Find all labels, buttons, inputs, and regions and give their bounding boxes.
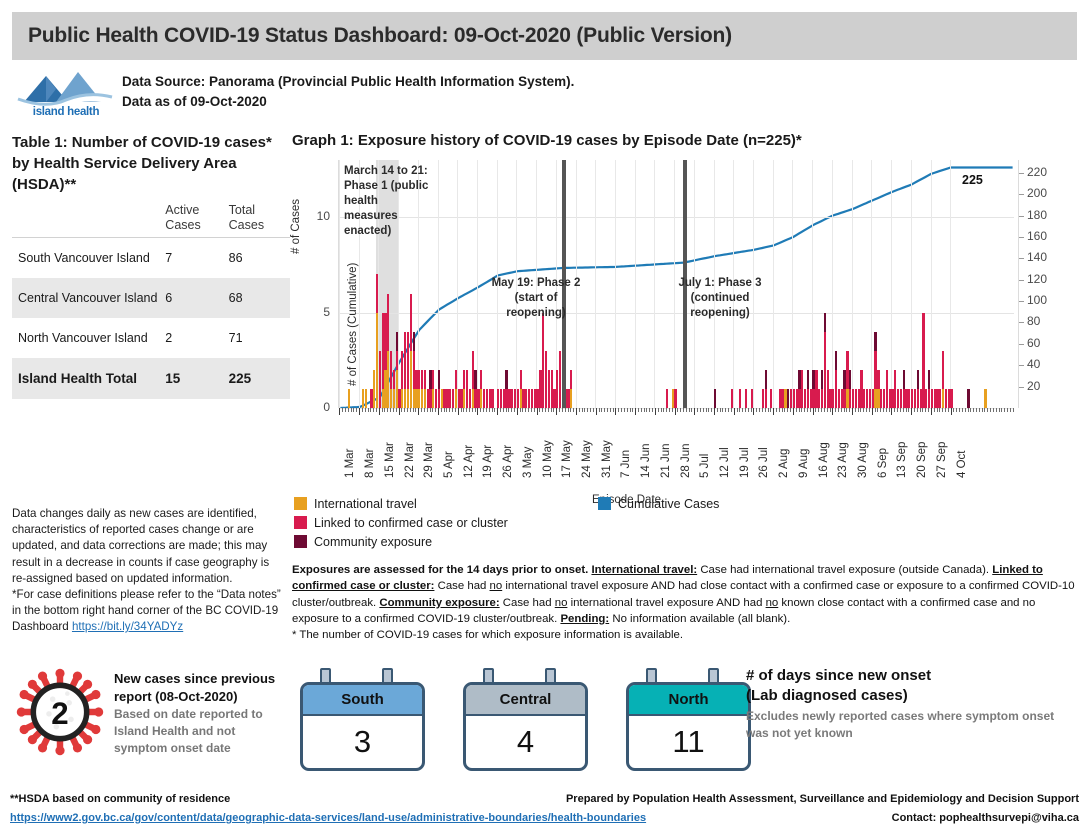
x-axis-tick (703, 408, 704, 412)
x-axis-tick (706, 408, 707, 412)
gridline-vertical (457, 160, 458, 408)
x-axis-tick (435, 408, 436, 412)
x-axis-tick (725, 408, 726, 412)
x-axis-tick (925, 408, 926, 412)
bar-segment (413, 332, 415, 351)
x-axis-tick (590, 408, 591, 412)
x-axis-tick-label: 8 Mar (364, 449, 376, 478)
x-axis-tick-label: 10 May (542, 440, 554, 478)
x-axis-tick (638, 408, 639, 412)
x-axis-tick-label: 2 Aug (778, 449, 790, 478)
y-axis-left-tick: 10 (304, 209, 330, 223)
x-axis-tick (697, 408, 698, 412)
x-axis-tick (748, 408, 749, 412)
x-axis-tick (787, 408, 788, 412)
x-axis-tick (404, 408, 405, 412)
legend-item: Community exposure (294, 532, 794, 551)
x-axis-tick (661, 408, 662, 412)
x-axis-tick (630, 408, 631, 412)
calendar-card-south: South 3 (300, 668, 425, 771)
x-axis-tick (500, 408, 501, 412)
x-axis-tick (1001, 408, 1002, 412)
x-axis-tick (672, 408, 673, 412)
y-axis-right-tick: 120 (1027, 272, 1047, 286)
x-axis-tick (838, 408, 839, 412)
y-axis-right-tickmark (1019, 387, 1024, 388)
exposure-definitions-note: Exposures are assessed for the 14 days p… (292, 562, 1082, 643)
bar-segment (765, 370, 767, 389)
logo-wordmark: island health (16, 106, 116, 118)
x-axis-major-tick (832, 408, 833, 415)
y-axis-right-tick: 220 (1027, 165, 1047, 179)
x-axis-major-tick (675, 408, 676, 415)
x-axis-tick (801, 408, 802, 412)
x-axis-tick (362, 408, 363, 412)
y-axis-right-tick: 60 (1027, 336, 1040, 350)
x-axis-major-tick (576, 408, 577, 415)
x-axis-tick (373, 408, 374, 412)
x-axis-tick (722, 408, 723, 412)
x-axis-tick (863, 408, 864, 412)
x-axis-major-tick (379, 408, 380, 415)
x-axis-tick (691, 408, 692, 412)
x-axis-tick (401, 408, 402, 412)
table-title: Table 1: Number of COVID-19 cases* by He… (12, 132, 290, 195)
x-axis-tick (455, 408, 456, 412)
data-changes-note: Data changes daily as new cases are iden… (12, 507, 269, 585)
x-axis-tick (384, 408, 385, 412)
table-col-active-cases: ActiveCases (165, 203, 228, 238)
page-title: Public Health COVID-19 Status Dashboard:… (12, 24, 732, 48)
legend-label: Linked to confirmed case or cluster (314, 516, 508, 530)
y-axis-right-tickmark (1019, 280, 1024, 281)
x-axis-major-tick (635, 408, 636, 415)
bar-segment (942, 351, 944, 389)
x-axis-tick (965, 408, 966, 412)
x-axis-tick (1007, 408, 1008, 412)
row-total-cases: 68 (229, 278, 290, 318)
y-axis-right-tickmark (1019, 258, 1024, 259)
bar-segment (849, 370, 851, 389)
x-axis-tick (579, 408, 580, 412)
hsda-case-table: ActiveCases TotalCases South Vancouver I… (12, 203, 290, 399)
x-axis-tick (444, 408, 445, 412)
x-axis-tick (858, 408, 859, 412)
table-row: North Vancouver Island 2 71 (12, 318, 290, 358)
x-axis-tick (520, 408, 521, 412)
total-total-cases: 225 (229, 358, 290, 399)
x-axis-tick (494, 408, 495, 412)
x-axis-tick (962, 408, 963, 412)
x-axis-major-tick (793, 408, 794, 415)
term-pending: Pending: (560, 613, 609, 625)
x-axis-tick (610, 408, 611, 412)
x-axis-tick (739, 408, 740, 412)
x-axis-tick (621, 408, 622, 412)
x-axis-tick-label: 24 May (581, 440, 593, 478)
x-axis-tick-label: 28 Jun (680, 443, 692, 478)
data-source-block: Data Source: Panorama (Provincial Public… (122, 72, 722, 112)
bar-segment (984, 389, 986, 408)
left-column: Table 1: Number of COVID-19 cases* by He… (12, 132, 290, 399)
bar-segment (765, 389, 767, 408)
x-axis-tick (875, 408, 876, 412)
table-row: Central Vancouver Island 6 68 (12, 278, 290, 318)
gridline-vertical (950, 160, 951, 408)
x-axis-tick (449, 408, 450, 412)
x-axis-tick (984, 408, 985, 412)
x-axis-major-tick (714, 408, 715, 415)
bar-segment (491, 389, 493, 408)
x-axis-tick (844, 408, 845, 412)
x-axis-tick (815, 408, 816, 412)
x-axis-tick-label: 29 Mar (423, 442, 435, 478)
calendar-card-central: Central 4 (463, 668, 588, 771)
x-axis-tick (756, 408, 757, 412)
bar-segment (365, 389, 367, 408)
bc-dashboard-link[interactable]: https://bit.ly/34YADYz (72, 620, 183, 633)
gridline-vertical (911, 160, 912, 408)
x-axis-tick (551, 408, 552, 412)
y-axis-right-tickmark (1019, 344, 1024, 345)
x-axis-tick (821, 408, 822, 412)
x-axis-tick (658, 408, 659, 412)
y-axis-right-tick: 180 (1027, 208, 1047, 222)
x-axis-tick (996, 408, 997, 412)
x-axis-tick (956, 408, 957, 412)
total-row-label: Island Health Total (12, 358, 165, 399)
x-axis-tick (370, 408, 371, 412)
x-axis-tick (387, 408, 388, 412)
x-axis-tick-label: 16 Aug (818, 442, 830, 478)
x-axis-tick (835, 408, 836, 412)
x-axis-tick (934, 408, 935, 412)
x-axis-tick (976, 408, 977, 412)
x-axis-tick (599, 408, 600, 412)
x-axis-tick (790, 408, 791, 412)
x-axis-tick-label: 19 Jul (739, 447, 751, 478)
x-axis-tick (624, 408, 625, 412)
table-row: South Vancouver Island 7 86 (12, 238, 290, 279)
y-axis-right-tick: 160 (1027, 229, 1047, 243)
y-axis-right-tick: 140 (1027, 250, 1047, 264)
y-axis-right-tickmark (1019, 173, 1024, 174)
data-source-line: Data Source: Panorama (Provincial Public… (122, 72, 722, 92)
y-axis-right: 20406080100120140160180200220 (1018, 160, 1082, 408)
x-axis-tick (677, 408, 678, 412)
legend-label: Community exposure (314, 535, 432, 549)
x-axis-tick (903, 408, 904, 412)
x-axis-tick (345, 408, 346, 412)
x-axis-tick (475, 408, 476, 412)
x-axis-major-tick (517, 408, 518, 415)
x-axis-tick (604, 408, 605, 412)
x-axis-tick (928, 408, 929, 412)
x-axis-tick (539, 408, 540, 412)
x-axis-tick (613, 408, 614, 412)
x-axis-tick (356, 408, 357, 412)
legend-swatch-linked-case (294, 516, 307, 529)
table-header-row: ActiveCases TotalCases (12, 203, 290, 238)
x-axis-tick (508, 408, 509, 412)
calendar-region-label: South (303, 685, 422, 716)
x-axis-tick (742, 408, 743, 412)
row-active-cases: 2 (165, 318, 228, 358)
x-axis-tick (880, 408, 881, 412)
x-axis-tick (886, 408, 887, 412)
gridline-vertical (635, 160, 636, 408)
legend-label: Cumulative Cases (618, 497, 719, 511)
x-axis-tick-label: 26 Apr (502, 445, 514, 478)
row-active-cases: 7 (165, 238, 228, 279)
x-axis-tick (855, 408, 856, 412)
bar-segment (770, 389, 772, 408)
x-axis-tick (593, 408, 594, 412)
new-cases-block: 2 New cases since previous report (08-Oc… (14, 666, 290, 758)
x-axis-major-tick (497, 408, 498, 415)
x-axis-tick (917, 408, 918, 412)
x-axis-tick (461, 408, 462, 412)
legend-swatch-community-exposure (294, 535, 307, 548)
x-axis-tick (415, 408, 416, 412)
x-axis-tick (768, 408, 769, 412)
x-axis-major-tick (537, 408, 538, 415)
gridline-vertical (891, 160, 892, 408)
y-axis-left-tick: 5 (304, 305, 330, 319)
annotation-phase3: July 1: Phase 3 (continued reopening) (670, 276, 770, 321)
x-axis-tick (427, 408, 428, 412)
row-total-cases: 86 (229, 238, 290, 279)
x-axis-major-tick (655, 408, 656, 415)
x-axis-tick (565, 408, 566, 412)
bar-segment (877, 370, 879, 389)
bar-segment (455, 370, 457, 389)
x-axis-tick (784, 408, 785, 412)
x-axis-tick-label: 23 Aug (837, 442, 849, 478)
bar-segment (928, 370, 930, 389)
x-axis-tick (511, 408, 512, 412)
bar-segment (570, 370, 572, 389)
x-axis-tick (534, 408, 535, 412)
exposure-footnote: * The number of COVID-19 cases for which… (292, 629, 683, 641)
x-axis-tick (553, 408, 554, 412)
bar-segment (903, 370, 905, 389)
bar-segment (731, 389, 733, 408)
x-axis-major-tick (596, 408, 597, 415)
footer-hsda-note: **HSDA based on community of residence (10, 790, 646, 809)
gridline-vertical (852, 160, 853, 408)
x-axis-tick (584, 408, 585, 412)
x-axis-tick (846, 408, 847, 412)
annotation-phase1: March 14 to 21: Phase 1 (public health m… (344, 164, 432, 239)
x-axis-tick (866, 408, 867, 412)
bar-segment (505, 370, 507, 389)
x-axis-tick (999, 408, 1000, 412)
x-axis-tick (351, 408, 352, 412)
data-notes-block: Data changes daily as new cases are iden… (12, 506, 284, 636)
gridline-vertical (871, 160, 872, 408)
x-axis-tick (765, 408, 766, 412)
x-axis-tick-label: 4 Oct (956, 451, 968, 478)
x-axis-tick-label: 20 Sep (916, 442, 928, 478)
x-axis-tick (900, 408, 901, 412)
x-axis-tick (663, 408, 664, 412)
x-axis-tick (849, 408, 850, 412)
x-axis-major-tick (438, 408, 439, 415)
x-axis-tick (413, 408, 414, 412)
x-axis-tick (390, 408, 391, 412)
row-area-name: North Vancouver Island (12, 318, 165, 358)
x-axis-tick (945, 408, 946, 412)
x-axis-tick (920, 408, 921, 412)
x-axis-tick (979, 408, 980, 412)
x-axis-tick (953, 408, 954, 412)
x-axis-tick (948, 408, 949, 412)
x-axis-tick (745, 408, 746, 412)
x-axis-tick (807, 408, 808, 412)
x-axis-tick-label: 1 Mar (344, 449, 356, 478)
x-axis-tick (463, 408, 464, 412)
x-axis-tick (506, 408, 507, 412)
new-cases-sub: Based on date reported to Island Health … (114, 706, 290, 757)
gridline-horizontal (339, 217, 1014, 218)
x-axis-tick (559, 408, 560, 412)
x-axis-tick (939, 408, 940, 412)
legend-label: International travel (314, 497, 417, 511)
term-community-exposure: Community exposure: (379, 597, 499, 609)
x-axis-tick (987, 408, 988, 412)
x-axis-tick-label: 9 Aug (798, 449, 810, 478)
page-footer: **HSDA based on community of residence h… (0, 790, 1089, 837)
y-axis-right-tickmark (1019, 237, 1024, 238)
y-axis-right-tickmark (1019, 365, 1024, 366)
logo-mountains-icon (16, 68, 116, 108)
x-axis-tick-label: 3 May (522, 447, 534, 478)
x-axis-tick-label: 13 Sep (896, 442, 908, 478)
x-axis-tick (570, 408, 571, 412)
row-total-cases: 71 (229, 318, 290, 358)
days-heading-line1: # of days since new onset (746, 666, 1076, 686)
x-axis-major-tick (852, 408, 853, 415)
x-axis-tick (649, 408, 650, 412)
x-axis-tick-label: 12 Apr (463, 445, 475, 478)
exposure-intro: Exposures are assessed for the 14 days p… (292, 564, 591, 576)
term-international-travel: International travel: (591, 564, 697, 576)
x-axis-tick (376, 408, 377, 412)
x-axis-tick-label: 14 Jun (640, 443, 652, 478)
x-axis-tick (779, 408, 780, 412)
bar-segment (714, 389, 716, 408)
x-axis-major-tick (458, 408, 459, 415)
footer-boundaries-link[interactable]: https://www2.gov.bc.ca/gov/content/data/… (10, 812, 646, 824)
x-axis-tick-label: 6 Sep (877, 448, 889, 478)
calendar-region-label: Central (466, 685, 585, 716)
y-axis-right-tick: 80 (1027, 314, 1040, 328)
x-axis-major-tick (477, 408, 478, 415)
x-axis-tick-label: 12 Jul (719, 447, 731, 478)
calendar-card-north: North 11 (626, 668, 751, 771)
table-col-total-cases: TotalCases (229, 203, 290, 238)
x-axis-tick (782, 408, 783, 412)
x-axis-tick (830, 408, 831, 412)
x-axis-tick (689, 408, 690, 412)
days-heading-line2: (Lab diagnosed cases) (746, 686, 1076, 706)
x-axis-tick (393, 408, 394, 412)
bar-segment (438, 370, 440, 389)
x-axis-tick-label: 5 Jul (699, 454, 711, 478)
x-axis-tick (627, 408, 628, 412)
x-axis-major-tick (931, 408, 932, 415)
x-axis-tick-label: 31 May (601, 440, 613, 478)
x-axis-tick (342, 408, 343, 412)
x-axis-tick (810, 408, 811, 412)
x-axis-tick (914, 408, 915, 412)
x-axis-tick (762, 408, 763, 412)
bar-segment (807, 370, 809, 389)
bar-segment (396, 332, 398, 351)
bar-segment (674, 389, 676, 408)
x-axis-tick (683, 408, 684, 412)
x-axis-tick (382, 408, 383, 412)
x-axis-tick (525, 408, 526, 412)
island-health-logo: island health (16, 68, 116, 120)
legend-item: Linked to confirmed case or cluster (294, 513, 794, 532)
data-as-of-line: Data as of 09-Oct-2020 (122, 92, 722, 112)
gridline-vertical (477, 160, 478, 408)
x-axis-tick (452, 408, 453, 412)
x-axis-tick (582, 408, 583, 412)
x-axis-tick (652, 408, 653, 412)
x-axis-tick (618, 408, 619, 412)
bar-segment (751, 389, 753, 408)
x-axis-tick-label: 21 Jun (660, 443, 672, 478)
x-axis-tick (486, 408, 487, 412)
x-axis-major-tick (339, 408, 340, 415)
x-axis-major-tick (753, 408, 754, 415)
bar-segment (967, 389, 969, 408)
graph-panel: Graph 1: Exposure history of COVID-19 ca… (292, 132, 1082, 492)
x-axis-tick (424, 408, 425, 412)
days-since-onset-legend: # of days since new onset (Lab diagnosed… (746, 666, 1076, 742)
x-axis-tick-label: 27 Sep (936, 442, 948, 478)
x-axis-tick (877, 408, 878, 412)
x-axis-tick (751, 408, 752, 412)
gridline-vertical (339, 160, 340, 408)
x-axis-tick (365, 408, 366, 412)
x-axis-tick (731, 408, 732, 412)
x-axis-tick (568, 408, 569, 412)
x-axis-tick (430, 408, 431, 412)
x-axis-tick (472, 408, 473, 412)
x-axis-tick (666, 408, 667, 412)
x-axis-tick (968, 408, 969, 412)
x-axis-tick (587, 408, 588, 412)
x-axis-tick (708, 408, 709, 412)
x-axis-major-tick (813, 408, 814, 415)
x-axis-tick-label: 22 Mar (404, 442, 416, 478)
x-axis-major-tick (359, 408, 360, 415)
x-axis-tick (799, 408, 800, 412)
x-axis-tick (542, 408, 543, 412)
x-axis-major-tick (773, 408, 774, 415)
x-axis-tick (770, 408, 771, 412)
table-col-area (12, 203, 165, 238)
x-axis-tick-label: 15 Mar (384, 442, 396, 478)
new-case-count: 2 (51, 696, 68, 731)
footer-contact: Contact: pophealthsurvepi@viha.ca (566, 809, 1079, 828)
x-axis-tick-label: 17 May (561, 440, 573, 478)
dashboard-title-bar: Public Health COVID-19 Status Dashboard:… (12, 12, 1077, 60)
